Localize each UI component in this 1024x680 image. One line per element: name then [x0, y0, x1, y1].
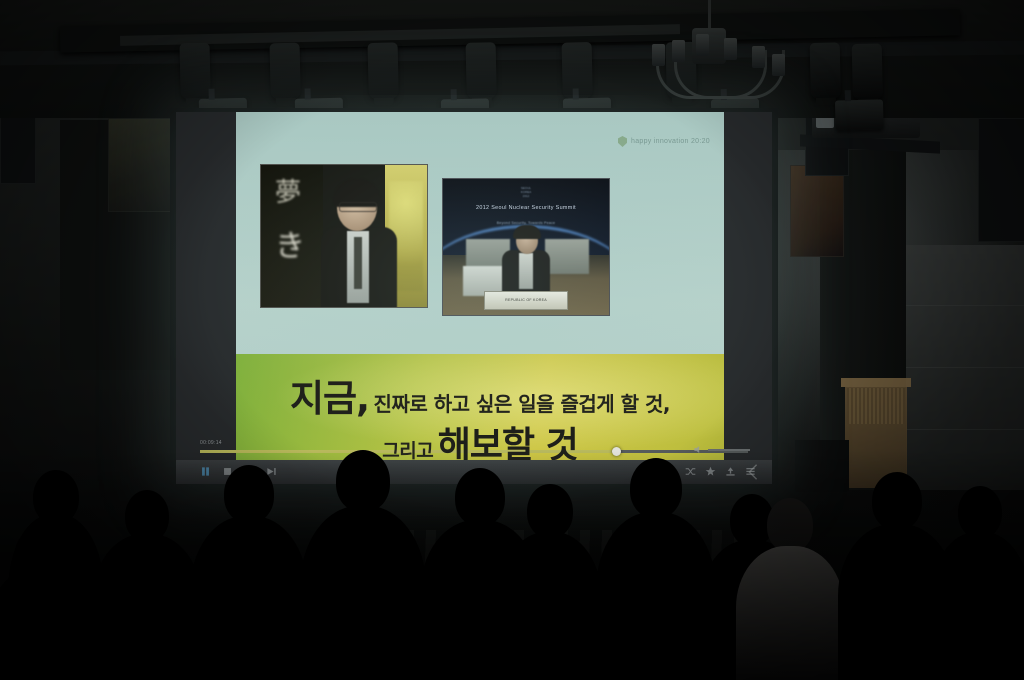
slide-photo-right: SEOULKOREA2012 2012 Seoul Nuclear Securi… — [442, 178, 610, 316]
summit-nameplate: REPUBLIC OF KOREA — [484, 291, 568, 310]
slide-caption-band: 지금, 진짜로 하고 싶은 일을 즐겁게 할 것, 그리고 해보할 것 — [236, 354, 724, 460]
caption-emphasis-2: 해보할 것 — [438, 425, 578, 460]
caption-lead-2: 그리고 — [382, 440, 433, 460]
calligraphy-glyph-1: 夢 — [273, 177, 303, 209]
slide-photo-left: 夢 き — [260, 164, 428, 308]
player-letterbox-right — [724, 112, 772, 460]
framed-picture-left — [108, 118, 172, 212]
caption-emphasis-1: 지금, — [290, 377, 369, 420]
slide-logo-text: happy innovation 20:20 — [631, 138, 710, 145]
auditorium-scene: happy innovation 20:20 夢 き — [0, 0, 1024, 680]
summit-backdrop-title: 2012 Seoul Nuclear Security Summit — [443, 205, 609, 211]
caption-line-2: 그리고 해보할 것 — [236, 416, 724, 460]
projection-screen: happy innovation 20:20 夢 き — [176, 112, 772, 484]
chandelier — [612, 0, 812, 108]
wall-speaker-right — [978, 118, 1024, 242]
glasses-icon — [339, 202, 377, 212]
summit-toptext: SEOULKOREA2012 — [443, 186, 609, 199]
photo-left-person — [323, 185, 395, 307]
presentation-slide: happy innovation 20:20 夢 き — [236, 112, 724, 460]
framed-picture-right — [790, 165, 844, 257]
calligraphy-glyph-2: き — [275, 227, 305, 267]
summit-nameplate-text: REPUBLIC OF KOREA — [505, 298, 547, 302]
caption-line-1: 지금, 진짜로 하고 싶은 일을 즐겁게 할 것, — [236, 368, 724, 422]
floor-shadow — [0, 450, 1024, 680]
player-letterbox-left — [176, 112, 236, 460]
slide-logo: happy innovation 20:20 — [618, 136, 710, 147]
caption-rest-1: 진짜로 하고 싶은 일을 즐겁게 할 것, — [374, 392, 670, 416]
elapsed-time: 00:09:14 — [200, 440, 222, 446]
shield-icon — [618, 136, 627, 147]
